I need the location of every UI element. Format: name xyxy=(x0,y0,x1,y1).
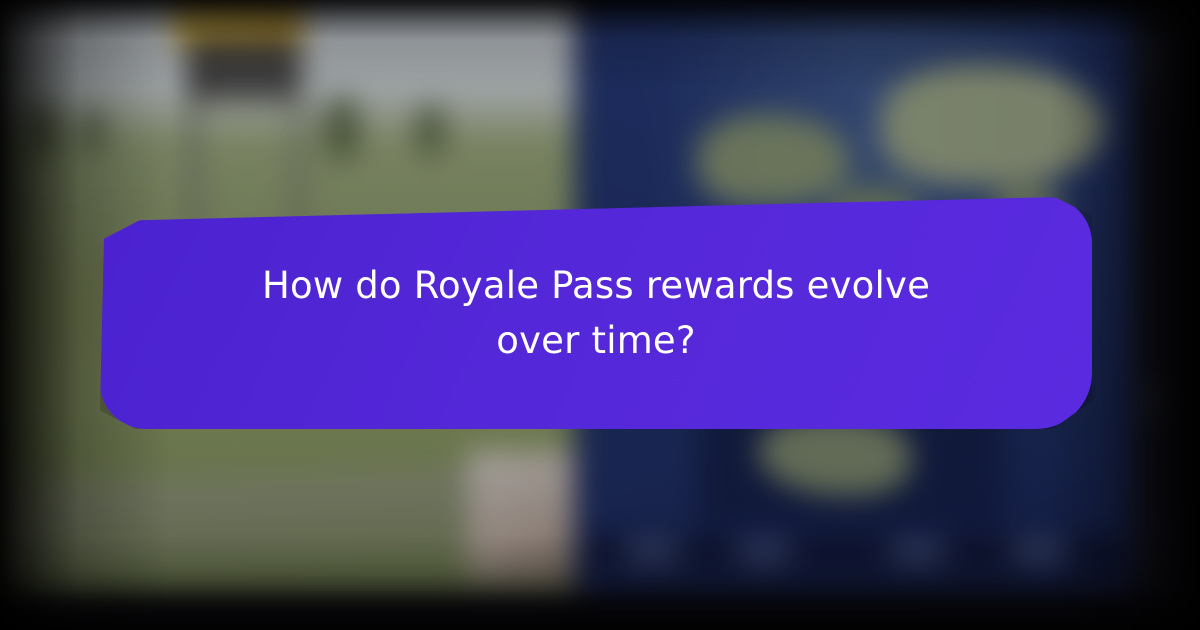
share-card: How do Royale Pass rewards evolve over t… xyxy=(0,0,1200,630)
headline-banner: How do Royale Pass rewards evolve over t… xyxy=(100,197,1092,429)
headline-banner-inner: How do Royale Pass rewards evolve over t… xyxy=(236,258,956,369)
page-title: How do Royale Pass rewards evolve over t… xyxy=(236,258,956,369)
